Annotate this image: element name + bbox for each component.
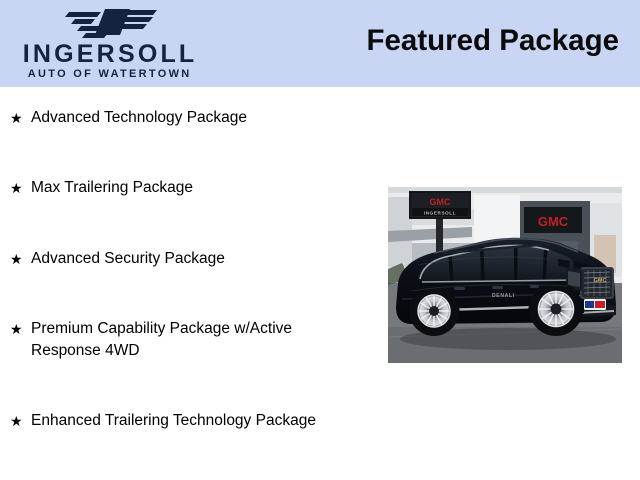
star-bullet-icon: ★ [10, 318, 31, 340]
star-bullet-icon: ★ [10, 248, 31, 270]
list-item: ★ Max Trailering Package [10, 177, 362, 199]
list-item: ★ Advanced Technology Package [10, 107, 362, 129]
list-item-label: Enhanced Trailering Technology Package [31, 410, 362, 432]
page-header: INGERSOLL AUTO OF WATERTOWN Featured Pac… [0, 0, 640, 87]
svg-text:DENALI: DENALI [492, 293, 515, 299]
star-bullet-icon: ★ [10, 107, 31, 129]
list-item: ★ Advanced Security Package [10, 248, 362, 270]
list-item-label: Max Trailering Package [31, 177, 362, 199]
star-bullet-icon: ★ [10, 410, 31, 432]
dealer-logo-subtitle: AUTO OF WATERTOWN [6, 67, 211, 81]
list-item-label: Advanced Technology Package [31, 107, 362, 129]
svg-text:GMC: GMC [430, 197, 451, 207]
star-bullet-icon: ★ [10, 177, 31, 199]
ingersoll-winged-emblem-icon [55, 4, 163, 40]
content-area: ★ Advanced Technology Package ★ Max Trai… [0, 87, 640, 480]
dealer-logo[interactable]: INGERSOLL AUTO OF WATERTOWN [6, 2, 211, 84]
list-item: ★ Premium Capability Package w/Active Re… [10, 318, 362, 362]
svg-text:GMC: GMC [594, 278, 607, 284]
list-item: ★ Enhanced Trailering Technology Package [10, 410, 362, 432]
svg-text:GMC: GMC [538, 214, 569, 229]
svg-text:INGERSOLL: INGERSOLL [424, 211, 456, 216]
list-item-label: Premium Capability Package w/Active Resp… [31, 318, 362, 362]
vehicle-photo-image: GMC INGERSOLL GMC [388, 187, 622, 363]
page-title: Featured Package [366, 24, 619, 58]
dealer-logo-wordmark: INGERSOLL [6, 41, 211, 67]
list-item-label: Advanced Security Package [31, 248, 362, 270]
vehicle-photo[interactable]: GMC INGERSOLL GMC [388, 187, 622, 363]
